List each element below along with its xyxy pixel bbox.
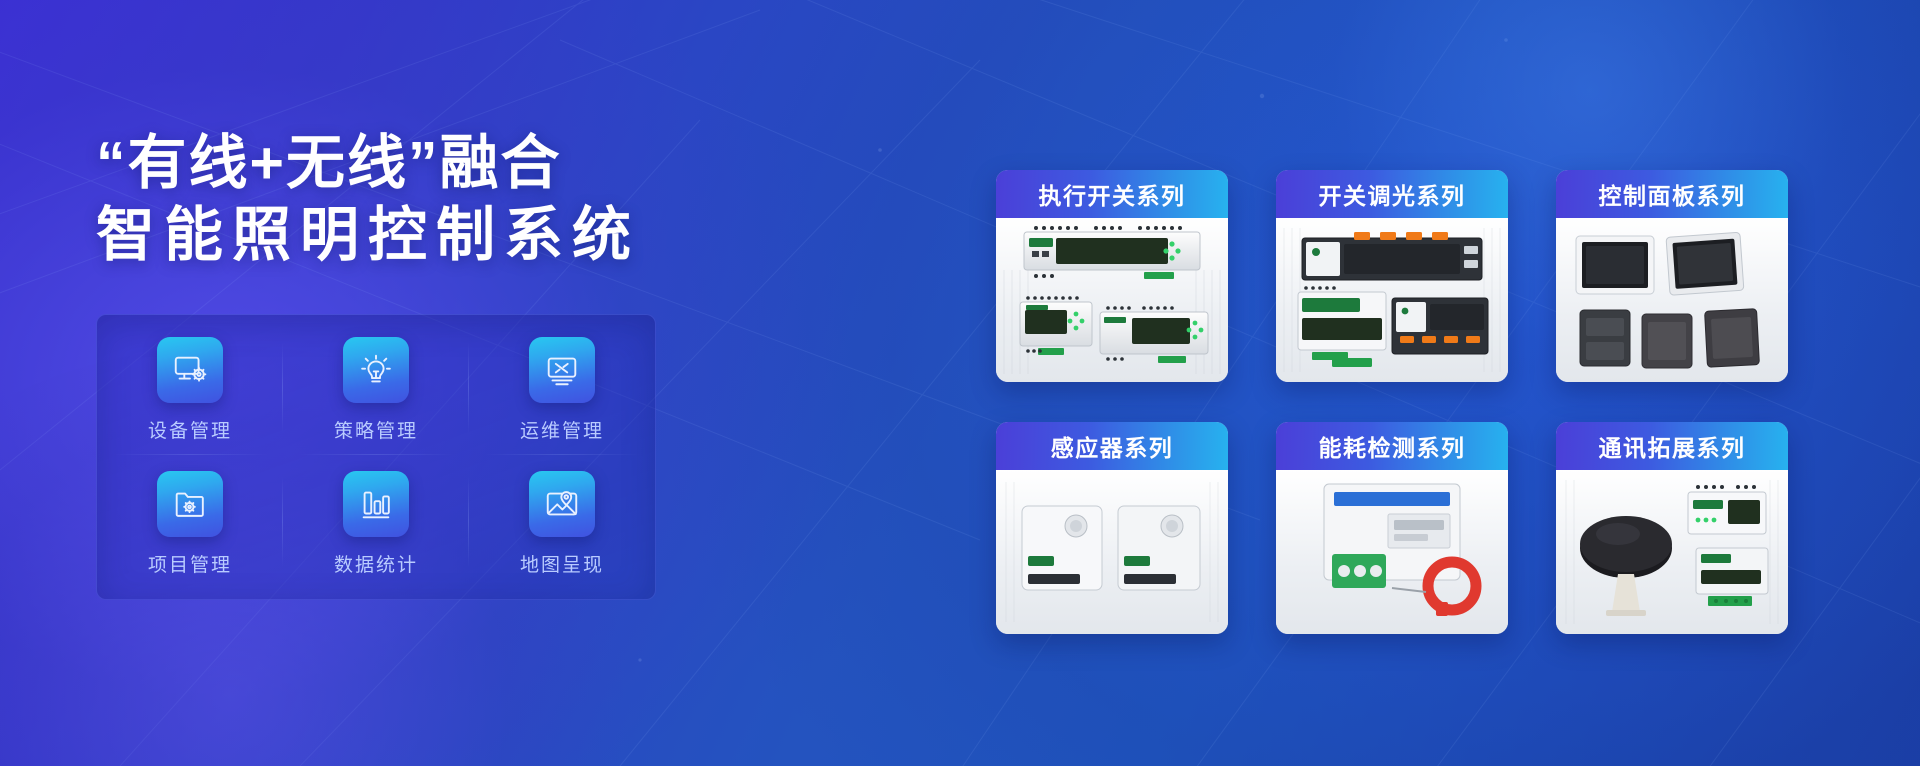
- product-card-sensor[interactable]: 感应器系列: [996, 422, 1228, 634]
- bar-chart-icon: [343, 471, 409, 537]
- feature-label: 项目管理: [148, 550, 232, 577]
- card-title: 通讯拓展系列: [1556, 422, 1788, 470]
- lightbulb-icon: [343, 337, 409, 403]
- product-card-control-panel[interactable]: 控制面板系列: [1556, 170, 1788, 382]
- energy-meter-ct-coil-image: [1276, 470, 1508, 634]
- card-title: 控制面板系列: [1556, 170, 1788, 218]
- map-pin-icon: [529, 471, 595, 537]
- relay-controller-modules-image: [996, 218, 1228, 382]
- product-card-dimmer-switch[interactable]: 开关调光系列: [1276, 170, 1508, 382]
- monitor-tools-icon: [529, 337, 595, 403]
- feature-label: 数据统计: [334, 550, 418, 577]
- feature-grid: 设备管理 策略管理: [96, 314, 656, 600]
- card-title: 执行开关系列: [996, 170, 1228, 218]
- headline-line-1: “有线+无线”融合: [96, 128, 756, 200]
- feature-label: 设备管理: [148, 416, 232, 443]
- feature-item-strategy-management[interactable]: 策略管理: [283, 321, 469, 455]
- touch-panel-screens-image: [1556, 218, 1788, 382]
- feature-item-project-management[interactable]: 项目管理: [97, 455, 283, 589]
- feature-item-map-view[interactable]: 地图呈现: [469, 455, 655, 589]
- card-title: 开关调光系列: [1276, 170, 1508, 218]
- feature-label: 策略管理: [334, 416, 418, 443]
- product-card-energy-meter[interactable]: 能耗检测系列: [1276, 422, 1508, 634]
- product-card-communication[interactable]: 通讯拓展系列: [1556, 422, 1788, 634]
- dimmer-din-rail-modules-image: [1276, 218, 1508, 382]
- card-title: 能耗检测系列: [1276, 422, 1508, 470]
- promo-banner: “有线+无线”融合 智能照明控制系统 设备管理: [0, 0, 1920, 766]
- headline-line-2: 智能照明控制系统: [96, 200, 756, 272]
- antenna-gateway-module-image: [1556, 470, 1788, 634]
- card-title: 感应器系列: [996, 422, 1228, 470]
- folder-gear-icon: [157, 471, 223, 537]
- feature-label: 地图呈现: [520, 550, 604, 577]
- feature-item-ops-management[interactable]: 运维管理: [469, 321, 655, 455]
- feature-item-data-statistics[interactable]: 数据统计: [283, 455, 469, 589]
- feature-item-device-management[interactable]: 设备管理: [97, 321, 283, 455]
- headline-section: “有线+无线”融合 智能照明控制系统 设备管理: [96, 128, 756, 600]
- product-card-relay-switch[interactable]: 执行开关系列: [996, 170, 1228, 382]
- product-card-grid: 执行开关系列: [996, 170, 1788, 634]
- page-title: “有线+无线”融合 智能照明控制系统: [96, 128, 756, 272]
- monitor-gear-icon: [157, 337, 223, 403]
- feature-label: 运维管理: [520, 416, 604, 443]
- motion-sensor-pair-image: [996, 470, 1228, 634]
